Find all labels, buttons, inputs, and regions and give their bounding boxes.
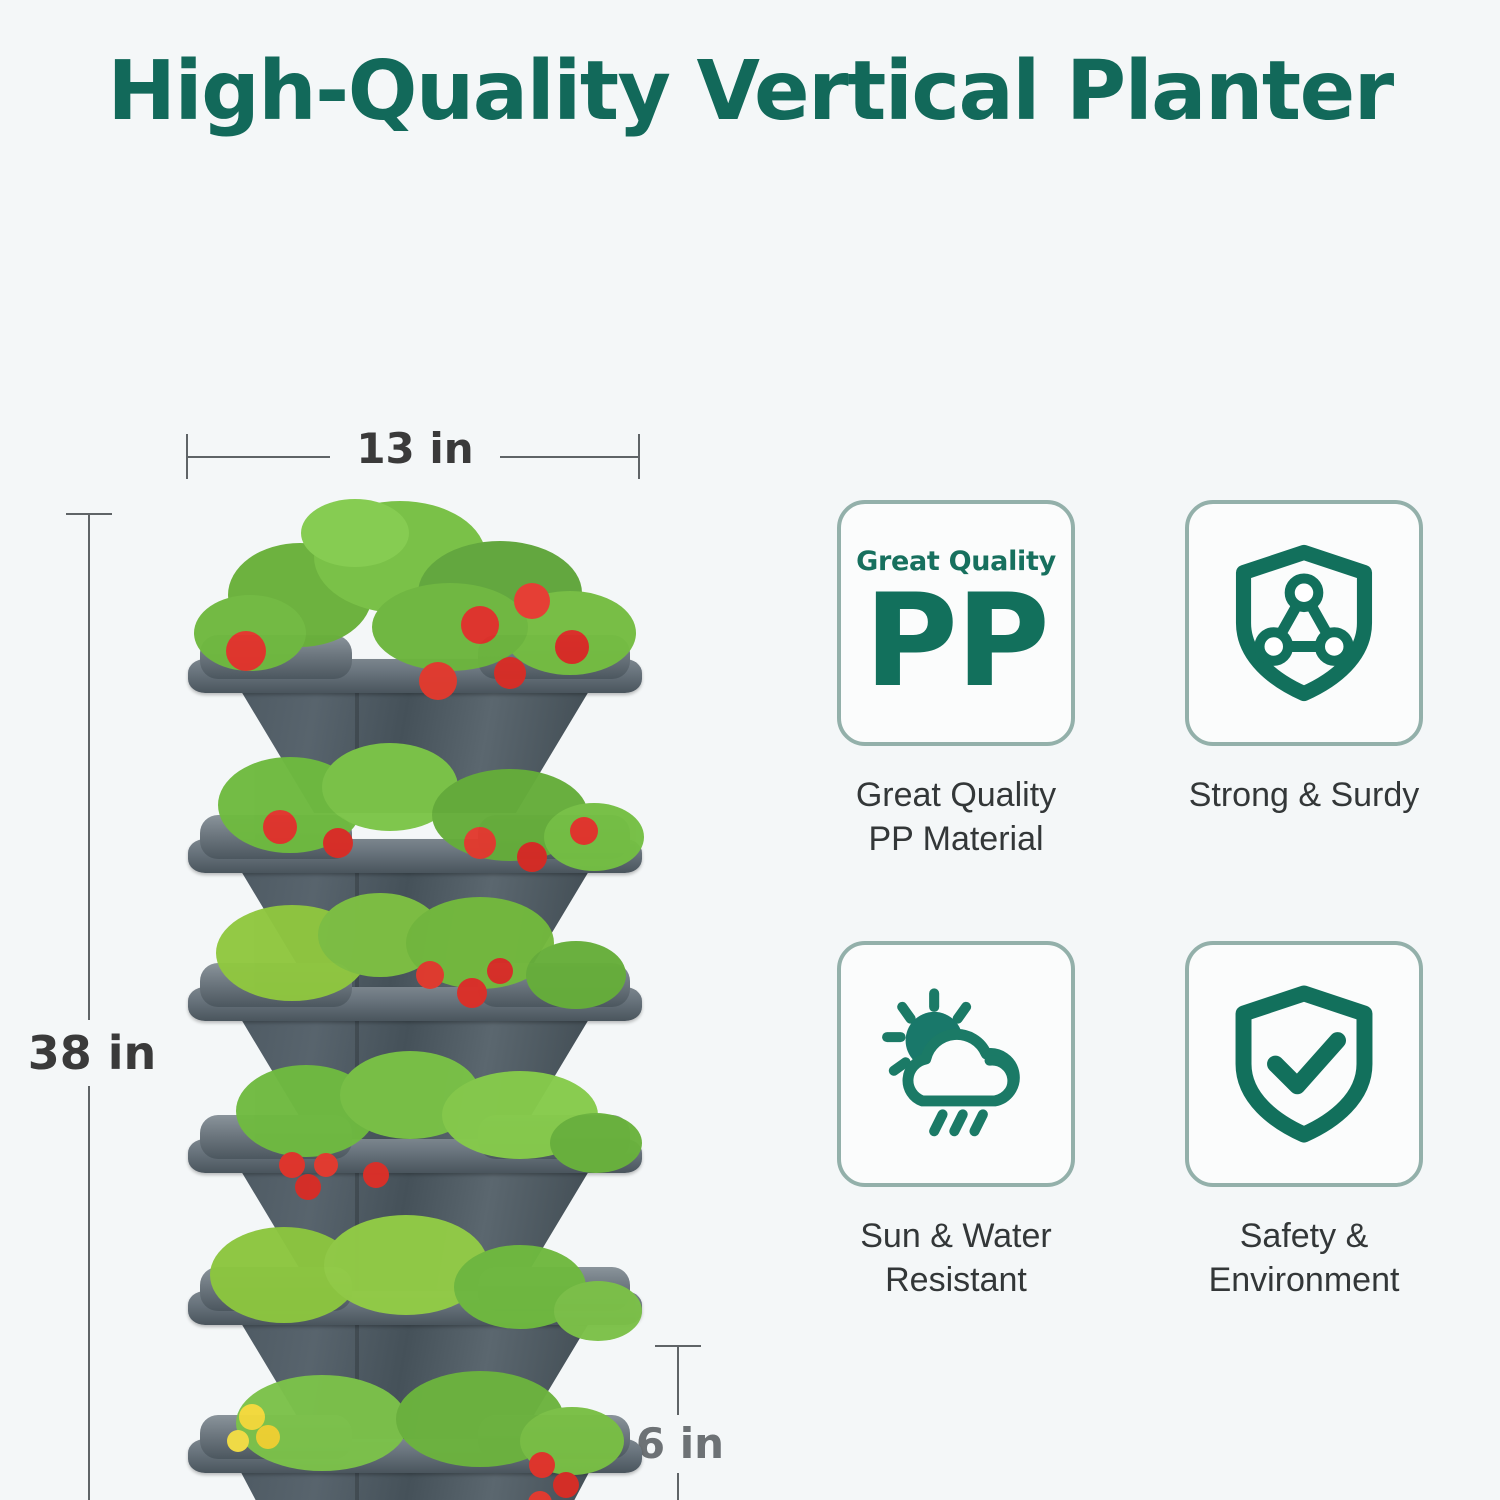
feature-card-1: Great Quality PP: [837, 500, 1075, 746]
tier-3-foliage: [216, 893, 626, 1009]
sun-cloud-rain-icon: [872, 980, 1040, 1148]
feature-great-quality-pp-material: Great Quality PP Great Quality PP Materi…: [800, 500, 1112, 889]
width-dimension-label: 13 in: [330, 422, 500, 476]
planter-foliage: [180, 475, 650, 1500]
base-height-dimension-cap-top: [655, 1345, 701, 1347]
feature-label-1: Great Quality PP Material: [856, 774, 1056, 861]
shield-check-icon: [1220, 980, 1388, 1148]
vertical-planter-product-image: [180, 475, 650, 1500]
width-dimension-cap-left: [186, 434, 188, 479]
height-dimension-cap-top: [66, 513, 112, 515]
feature-card-2: [1185, 500, 1423, 746]
feature-sun-water-resistant: Sun & Water Resistant: [800, 941, 1112, 1330]
tier-1-foliage: [194, 499, 636, 700]
tier-2-foliage: [218, 743, 644, 872]
tier-6-foliage: [227, 1371, 624, 1500]
tier-4-foliage: [236, 1051, 642, 1200]
height-dimension-label: 38 in: [22, 1020, 162, 1086]
feature-label-3: Sun & Water Resistant: [860, 1215, 1051, 1302]
feature-card-3: [837, 941, 1075, 1187]
infographic-canvas: High-Quality Vertical Planter 13 in 38 i…: [0, 0, 1500, 1500]
pp-badge-text: PP: [864, 583, 1048, 701]
product-illustration-area: 13 in 38 in 6 in: [0, 200, 790, 1480]
tier-5-foliage: [210, 1215, 642, 1341]
page-title: High-Quality Vertical Planter: [0, 44, 1500, 139]
feature-label-4: Safety & Environment: [1209, 1215, 1400, 1302]
feature-grid: Great Quality PP Great Quality PP Materi…: [800, 500, 1460, 1330]
height-dimension-line: [88, 513, 90, 1500]
pp-material-icon: Great Quality PP: [856, 546, 1056, 701]
width-dimension-cap-right: [638, 434, 640, 479]
feature-label-2: Strong & Surdy: [1189, 774, 1420, 818]
feature-card-4: [1185, 941, 1423, 1187]
feature-safety-environment: Safety & Environment: [1148, 941, 1460, 1330]
shield-triangle-icon: [1220, 539, 1388, 707]
feature-strong-sturdy: Strong & Surdy: [1148, 500, 1460, 889]
